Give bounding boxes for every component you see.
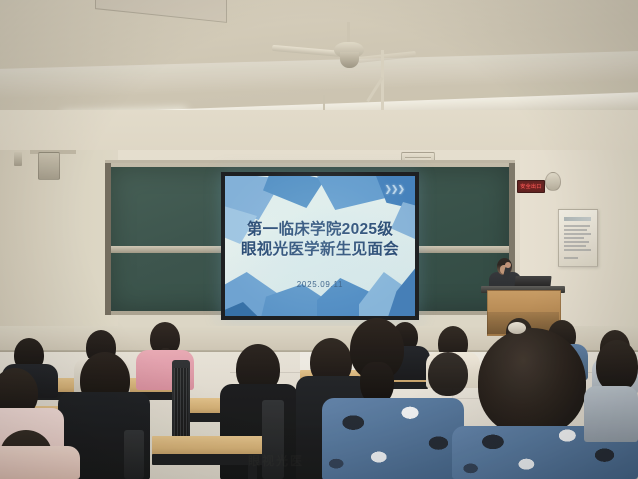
student-torso [584,386,638,442]
wall-notice-board [558,209,598,267]
wall-speaker [38,152,60,180]
slide-date: 2025.09.11 [225,280,415,289]
chevron-accent-icon: ❯❯❯ [384,185,404,195]
wall-bracket [14,152,22,166]
notice-title-bar [564,217,591,221]
ceiling-fan-rod [347,22,350,44]
notice-text-line [564,225,590,227]
exit-sign: 安全出口 [517,180,545,193]
chair-back [124,430,144,479]
student-head [478,328,586,436]
notice-text-line [564,233,591,235]
student-head [428,352,468,396]
notice-text-line [564,229,587,231]
notice-text-line [564,245,586,247]
desk [152,436,270,456]
desk-leg [248,462,257,479]
student-torso [0,446,80,479]
notice-text-line [564,257,578,259]
student-torso [322,398,464,479]
slide-title-line2: 眼视光医学新生见面会 [225,240,415,260]
notice-text-line [564,241,589,243]
projection-screen: ❯❯❯ 第一临床学院2025级 眼视光医学新生见面会 2025.09.11 [221,172,419,320]
slide-title-line1: 第一临床学院2025级 [225,220,415,240]
blackboard-left-edge [105,163,111,315]
wall-speaker [545,172,561,191]
student-head [596,340,638,392]
slide-shape [263,176,325,208]
presenter-hand [505,262,511,268]
notice-text-line [564,249,591,251]
slide-shape [317,176,387,210]
presentation-slide: ❯❯❯ 第一临床学院2025级 眼视光医学新生见面会 2025.09.11 [225,176,415,316]
student-hair-tie [508,322,526,334]
chair-mesh [174,368,188,446]
slide-title: 第一临床学院2025级 眼视光医学新生见面会 [225,220,415,260]
classroom-photo: 安全出口 [0,0,638,479]
exit-sign-label: 安全出口 [520,183,542,190]
chair-back [262,400,284,479]
notice-text-line [564,237,584,239]
